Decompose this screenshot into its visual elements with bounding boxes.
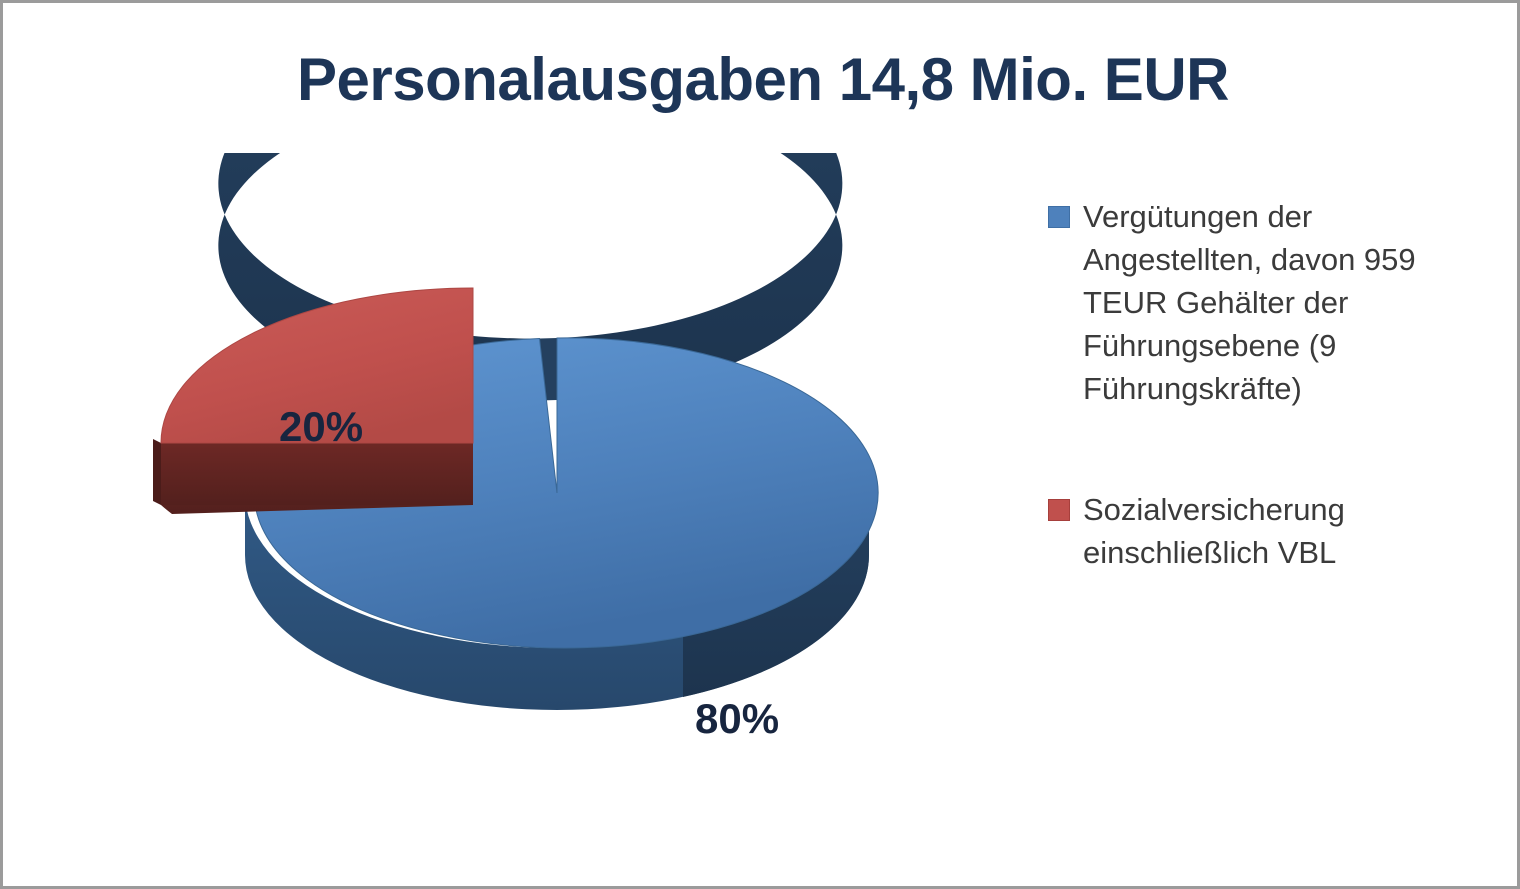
legend-item-verguetungen[interactable]: Vergütungen der Angestellten, davon 959 … xyxy=(1048,195,1498,410)
legend-swatch-blue-icon xyxy=(1048,206,1070,228)
page-title: Personalausgaben 14,8 Mio. EUR xyxy=(3,45,1520,114)
legend-item-label: Sozialversicherung einschließlich VBL xyxy=(1083,488,1498,574)
legend-item-label: Vergütungen der Angestellten, davon 959 … xyxy=(1083,195,1498,410)
pie-chart-graphic xyxy=(43,153,1003,853)
legend-swatch-red-icon xyxy=(1048,499,1070,521)
chart-legend: Vergütungen der Angestellten, davon 959 … xyxy=(1048,195,1498,652)
data-label-verguetungen: 80% xyxy=(695,695,779,743)
pie-chart-plot-area: 20% 80% xyxy=(43,153,1003,853)
legend-item-sozialversicherung[interactable]: Sozialversicherung einschließlich VBL xyxy=(1048,488,1498,574)
slide-canvas: Personalausgaben 14,8 Mio. EUR xyxy=(0,0,1520,889)
data-label-sozialversicherung: 20% xyxy=(279,403,363,451)
